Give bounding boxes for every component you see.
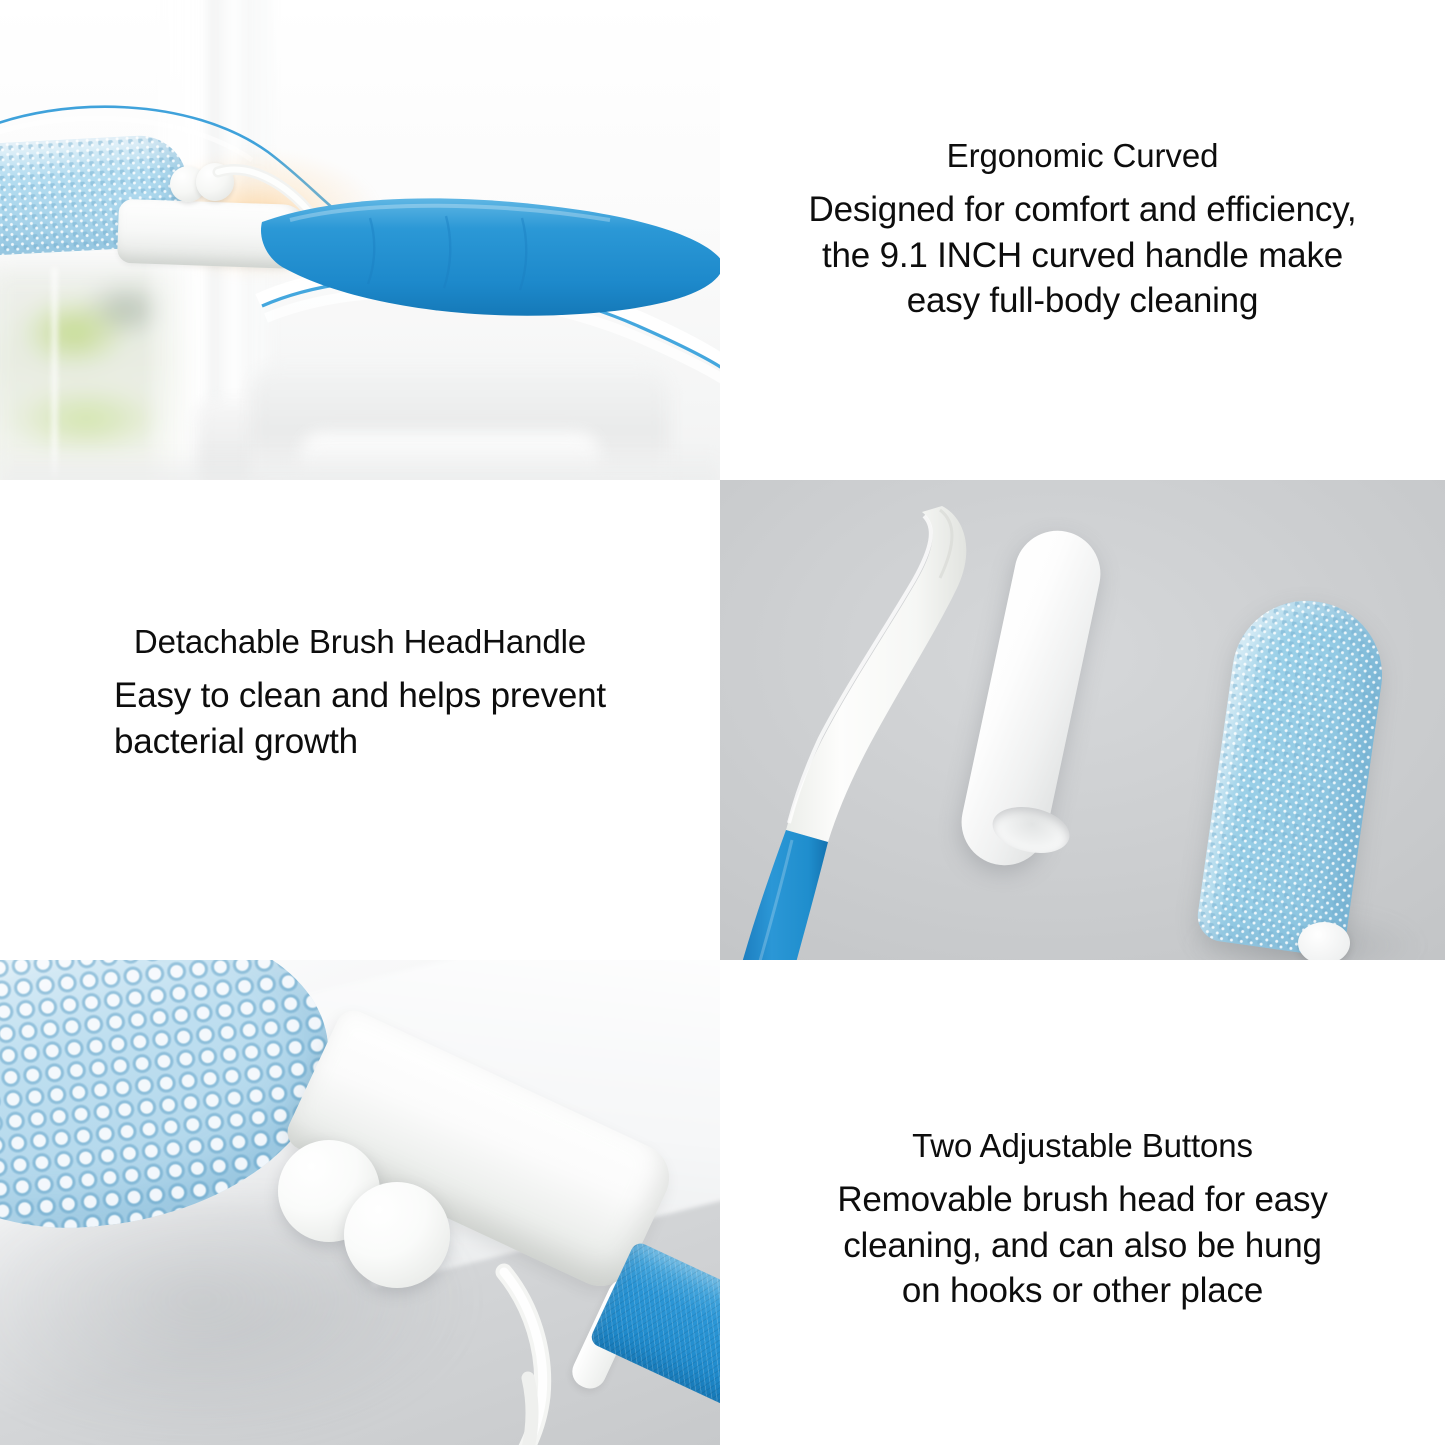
- white-hanging-cord-loop: [420, 1260, 640, 1445]
- white-end-tip: [1298, 922, 1350, 960]
- floor: [0, 448, 720, 480]
- body-line: Designed for comfort and efficiency,: [809, 187, 1357, 233]
- feature-body-detachable: Easy to clean and helps prevent bacteria…: [114, 673, 606, 764]
- feature-heading-detachable: Detachable Brush HeadHandle: [134, 622, 586, 662]
- blue-curved-handle: [250, 186, 720, 326]
- body-line: bacterial growth: [114, 719, 606, 765]
- panel-handle-in-room: [0, 0, 720, 480]
- feature-body-ergonomic: Designed for comfort and efficiency, the…: [809, 187, 1357, 324]
- feature-body-buttons: Removable brush head for easy cleaning, …: [837, 1177, 1327, 1314]
- body-line: easy full-body cleaning: [809, 278, 1357, 324]
- feature-heading-ergonomic: Ergonomic Curved: [947, 136, 1219, 176]
- panel-feature-ergonomic: Ergonomic Curved Designed for comfort an…: [720, 0, 1445, 480]
- panel-feature-detachable: Detachable Brush HeadHandle Easy to clea…: [0, 480, 720, 960]
- panel-feature-buttons: Two Adjustable Buttons Removable brush h…: [720, 960, 1445, 1445]
- body-line: Removable brush head for easy: [837, 1177, 1327, 1223]
- body-line: the 9.1 INCH curved handle make: [809, 233, 1357, 279]
- panel-button-closeup: [0, 960, 720, 1445]
- product-infographic: Ergonomic Curved Designed for comfort an…: [0, 0, 1445, 1445]
- body-line: Easy to clean and helps prevent: [114, 673, 606, 719]
- body-line: cleaning, and can also be hung: [837, 1223, 1327, 1269]
- blue-mesh-sleeve: [1194, 591, 1391, 958]
- body-line: on hooks or other place: [837, 1268, 1327, 1314]
- panel-disassembled-parts: [720, 480, 1445, 960]
- feature-heading-buttons: Two Adjustable Buttons: [912, 1126, 1253, 1166]
- window-frame: [52, 268, 57, 478]
